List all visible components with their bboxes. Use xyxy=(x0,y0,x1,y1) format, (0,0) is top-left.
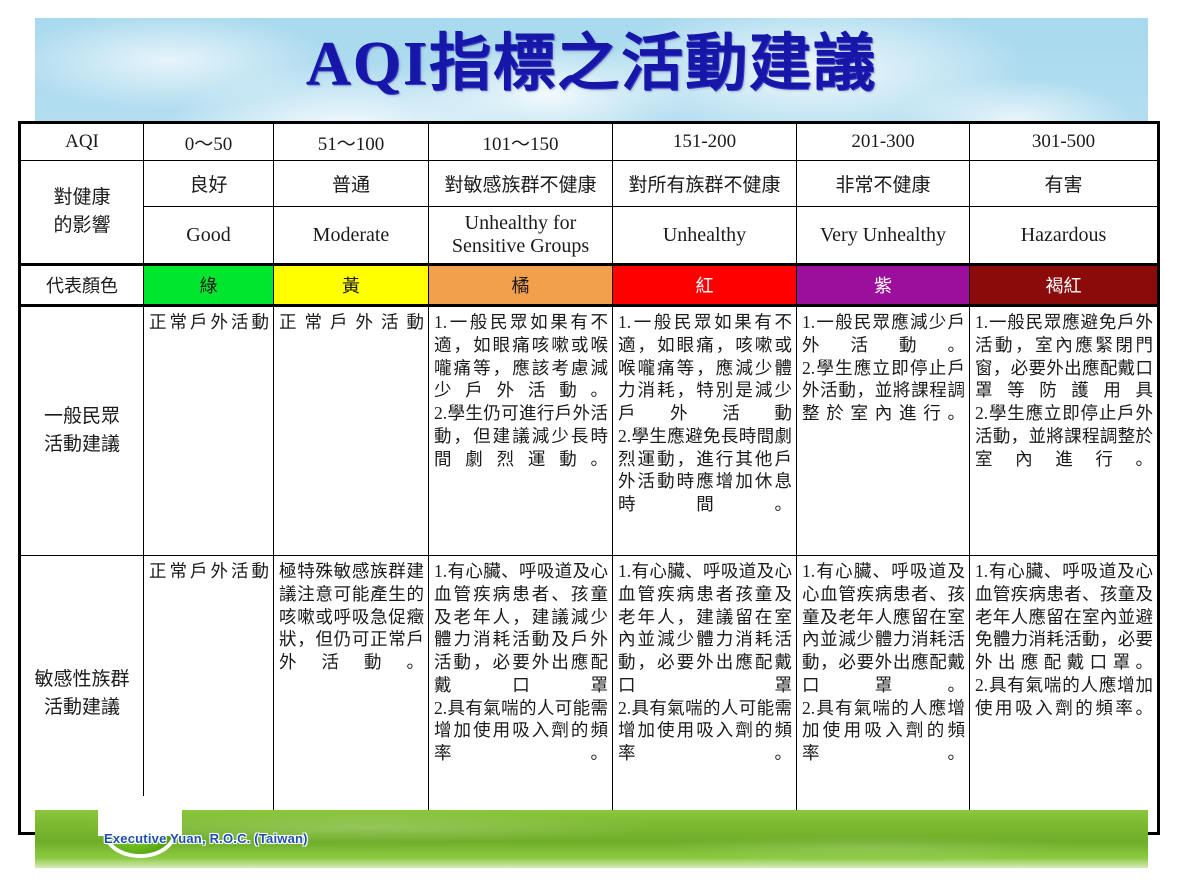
row-header-aqi: AQI xyxy=(20,123,144,161)
slide-canvas: AQI指標之活動建議 AQI 0～50 51～100 101～150 151-2… xyxy=(35,18,1148,868)
level-cn-good: 良好 xyxy=(144,161,274,207)
general-advice-red: 1.一般民眾如果有不適，如眼痛，咳嗽或喉嚨痛等，應減少體力消耗，特別是減少戶外活… xyxy=(613,306,797,556)
footer-org-label: Executive Yuan, R.O.C. (Taiwan) xyxy=(104,831,308,846)
general-advice-yellow: 正常戶外活動 xyxy=(274,306,429,556)
level-en-very-unhealthy: Very Unhealthy xyxy=(797,207,970,265)
aqi-range-101-150: 101～150 xyxy=(429,123,613,161)
aqi-range-301-500: 301-500 xyxy=(970,123,1159,161)
aqi-range-51-100: 51～100 xyxy=(274,123,429,161)
table-row-level-en: Good Moderate Unhealthy for Sensitive Gr… xyxy=(20,207,1159,265)
color-swatch-maroon: 褐紅 xyxy=(970,265,1159,306)
color-swatch-green: 綠 xyxy=(144,265,274,306)
aqi-range-151-200: 151-200 xyxy=(613,123,797,161)
general-advice-purple: 1.一般民眾應減少戶外活動。 2.學生應立即停止戶外活動，並將課程調整於室內進行… xyxy=(797,306,970,556)
general-advice-maroon: 1.一般民眾應避免戶外活動，室內應緊閉門窗，必要外出應配戴口罩等防護用具 2.學… xyxy=(970,306,1159,556)
page-title: AQI指標之活動建議 xyxy=(35,30,1148,98)
level-en-good: Good xyxy=(144,207,274,265)
sensitive-advice-purple: 1.有心臟、呼吸道及心血管疾病患者、孩童及老年人應留在室內並減少體力消耗活動，必… xyxy=(797,556,970,834)
table-row-general-public: 一般民眾 活動建議 正常戶外活動 正常戶外活動 1.一般民眾如果有不適，如眼痛咳… xyxy=(20,306,1159,556)
table-row-level-cn: 對健康 的影響 良好 普通 對敏感族群不健康 對所有族群不健康 非常不健康 有害 xyxy=(20,161,1159,207)
level-cn-unhealthy: 對所有族群不健康 xyxy=(613,161,797,207)
aqi-range-201-300: 201-300 xyxy=(797,123,970,161)
grass-banner: Executive Yuan, R.O.C. (Taiwan) xyxy=(35,810,1148,868)
table-row-color: 代表顏色 綠 黃 橘 紅 紫 褐紅 xyxy=(20,265,1159,306)
row-header-color: 代表顏色 xyxy=(20,265,144,306)
general-advice-orange: 1.一般民眾如果有不適，如眼痛咳嗽或喉嚨痛等，應該考慮減少戶外活動。 2.學生仍… xyxy=(429,306,613,556)
level-cn-unhealthy-sensitive: 對敏感族群不健康 xyxy=(429,161,613,207)
level-en-unhealthy: Unhealthy xyxy=(613,207,797,265)
level-cn-hazardous: 有害 xyxy=(970,161,1159,207)
level-en-unhealthy-sensitive: Unhealthy for Sensitive Groups xyxy=(429,207,613,265)
sensitive-advice-maroon: 1.有心臟、呼吸道及心血管疾病患者、孩童及老年人應留在室內並避免體力消耗活動，必… xyxy=(970,556,1159,834)
color-swatch-orange: 橘 xyxy=(429,265,613,306)
row-header-sensitive-groups: 敏感性族群 活動建議 xyxy=(20,556,144,834)
row-header-general-public: 一般民眾 活動建議 xyxy=(20,306,144,556)
aqi-activity-table: AQI 0～50 51～100 101～150 151-200 201-300 … xyxy=(18,121,1157,835)
sensitive-advice-green: 正常戶外活動 xyxy=(144,556,274,834)
aqi-range-0-50: 0～50 xyxy=(144,123,274,161)
aqi-table: AQI 0～50 51～100 101～150 151-200 201-300 … xyxy=(18,121,1160,835)
level-en-hazardous: Hazardous xyxy=(970,207,1159,265)
sensitive-advice-red: 1.有心臟、呼吸道及心血管疾病患者孩童及老年人，建議留在室內並減少體力消耗活動，… xyxy=(613,556,797,834)
color-swatch-yellow: 黃 xyxy=(274,265,429,306)
level-en-moderate: Moderate xyxy=(274,207,429,265)
sensitive-advice-yellow: 極特殊敏感族群建議注意可能產生的咳嗽或呼吸急促癥狀，但仍可正常戶外活動。 xyxy=(274,556,429,834)
level-cn-moderate: 普通 xyxy=(274,161,429,207)
sensitive-advice-orange: 1.有心臟、呼吸道及心血管疾病患者、孩童及老年人，建議減少體力消耗活動及戶外活動… xyxy=(429,556,613,834)
row-header-health-effect: 對健康 的影響 xyxy=(20,161,144,265)
level-cn-very-unhealthy: 非常不健康 xyxy=(797,161,970,207)
table-row-aqi-range: AQI 0～50 51～100 101～150 151-200 201-300 … xyxy=(20,123,1159,161)
color-swatch-purple: 紫 xyxy=(797,265,970,306)
table-row-sensitive-groups: 敏感性族群 活動建議 正常戶外活動 極特殊敏感族群建議注意可能產生的咳嗽或呼吸急… xyxy=(20,556,1159,834)
general-advice-green: 正常戶外活動 xyxy=(144,306,274,556)
color-swatch-red: 紅 xyxy=(613,265,797,306)
